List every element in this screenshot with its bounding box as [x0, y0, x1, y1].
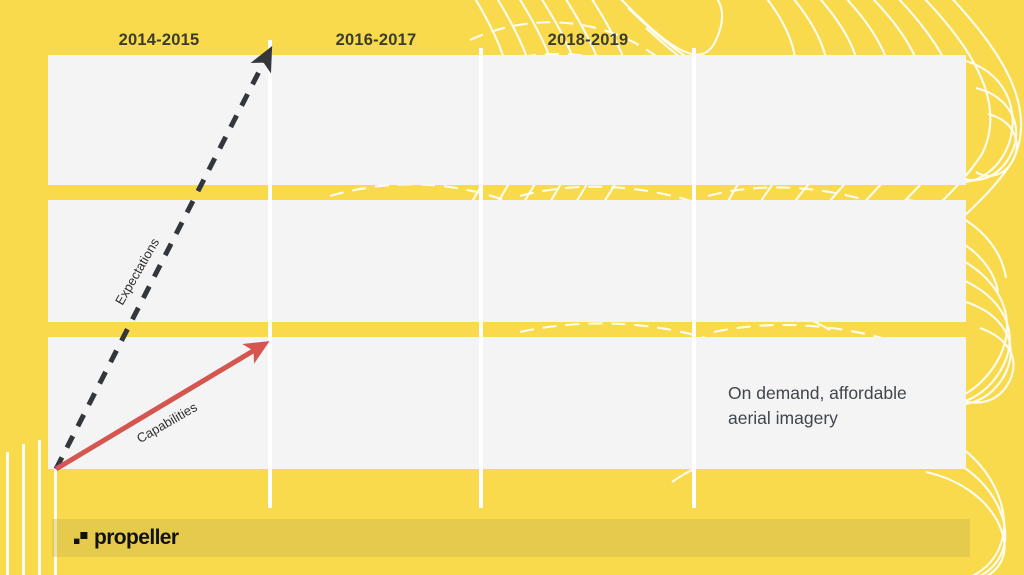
- propeller-logo: propeller: [74, 527, 178, 548]
- footer-bar: [52, 519, 970, 557]
- edge-stripe-2: [22, 444, 25, 575]
- callout-line-1: On demand, affordable: [728, 381, 953, 406]
- column-divider-3: [692, 48, 696, 508]
- slide-canvas: 2014-2015 2016-2017 2018-2019 Expectatio…: [0, 0, 1024, 575]
- year-label-2018-2019: 2018-2019: [484, 31, 692, 50]
- propeller-squares-icon: [74, 530, 89, 545]
- year-label-2014-2015: 2014-2015: [50, 31, 268, 50]
- panel-row-1: [48, 55, 966, 185]
- edge-stripe-1: [6, 452, 9, 575]
- panel-row-2: [48, 200, 966, 322]
- edge-stripe-3: [38, 440, 41, 575]
- callout-line-2: aerial imagery: [728, 406, 953, 431]
- propeller-logo-text: propeller: [94, 527, 178, 548]
- column-divider-2: [479, 48, 483, 508]
- column-divider-1: [268, 40, 272, 508]
- callout-text: On demand, affordable aerial imagery: [728, 381, 953, 432]
- year-label-2016-2017: 2016-2017: [272, 31, 480, 50]
